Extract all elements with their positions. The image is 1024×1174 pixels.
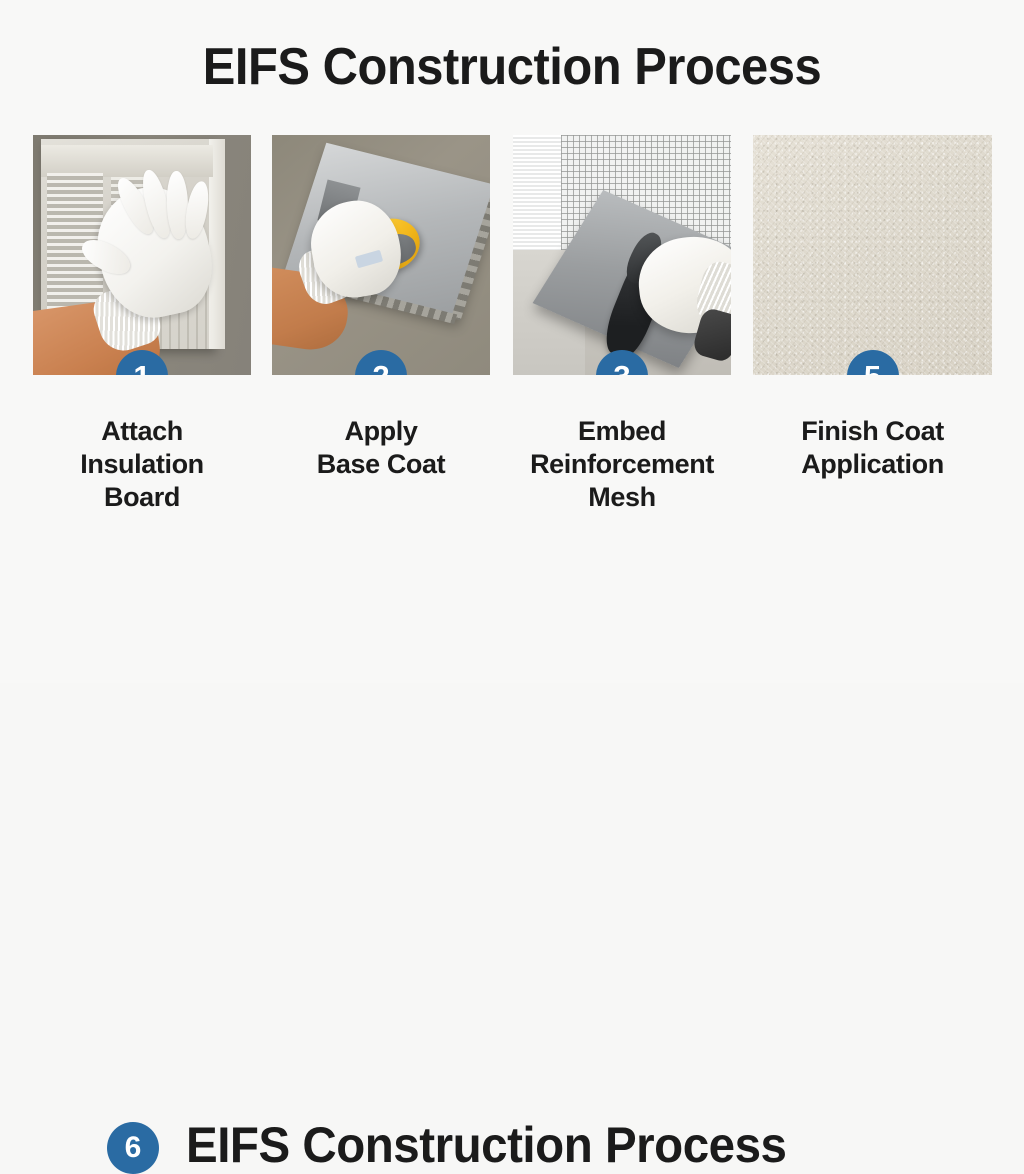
infographic-canvas: EIFS Construction Process: [0, 0, 1024, 683]
step-image-2: 2: [272, 135, 490, 375]
step-label-line: Finish Coat: [741, 415, 1004, 448]
step-label-2: Apply Base Coat: [260, 415, 502, 481]
step-image-1: 1: [33, 135, 251, 375]
footer-row: 6 EIFS Construction Process: [0, 555, 1024, 635]
step-card-1[interactable]: 1 Attach Insulation Board: [33, 135, 251, 375]
step-label-line: Mesh: [501, 481, 743, 514]
step-label-line: Attach: [21, 415, 263, 448]
step-card-3[interactable]: 3 Embed Reinforcement Mesh: [513, 135, 731, 375]
step-label-line: Base Coat: [260, 448, 502, 481]
step-label-line: Reinforcement: [501, 448, 743, 481]
step-card-2[interactable]: 2 Apply Base Coat: [272, 135, 490, 375]
step-label-line: Embed: [501, 415, 743, 448]
step-label-line: Insulation: [21, 448, 263, 481]
step-label-line: Board: [21, 481, 263, 514]
footer-title: EIFS Construction Process: [186, 1118, 786, 1173]
step-label-3: Embed Reinforcement Mesh: [501, 415, 743, 514]
step-card-4[interactable]: 5 Finish Coat Application: [753, 135, 992, 375]
step-label-line: Application: [741, 448, 1004, 481]
step-label-4: Finish Coat Application: [741, 415, 1004, 481]
footer-badge-6: 6: [107, 1122, 159, 1174]
finish-coat-grain: [753, 135, 992, 375]
step-image-4: 5: [753, 135, 992, 375]
step-image-3: 3: [513, 135, 731, 375]
page-title: EIFS Construction Process: [31, 40, 994, 95]
step-label-1: Attach Insulation Board: [21, 415, 263, 514]
step-label-line: Apply: [260, 415, 502, 448]
steps-row: 1 Attach Insulation Board: [0, 135, 1024, 535]
